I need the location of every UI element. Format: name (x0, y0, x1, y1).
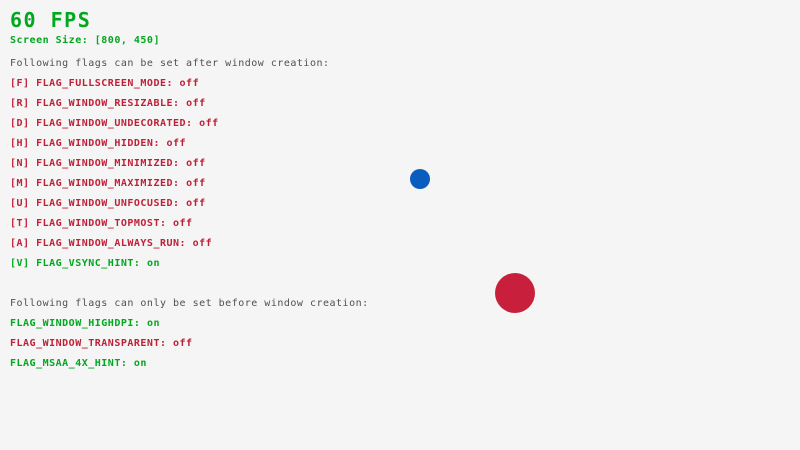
flag-name: [N] FLAG_WINDOW_MINIMIZED: (10, 158, 180, 169)
flag-row[interactable]: FLAG_WINDOW_TRANSPARENT: off (10, 339, 193, 349)
flag-name: FLAG_WINDOW_HIGHDPI: (10, 318, 140, 329)
flag-value: off (193, 118, 219, 129)
flag-row[interactable]: FLAG_MSAA_4X_HINT: on (10, 359, 147, 369)
flag-name: FLAG_WINDOW_TRANSPARENT: (10, 338, 167, 349)
flag-value: on (140, 258, 160, 269)
flag-value: on (127, 358, 147, 369)
flag-name: [F] FLAG_FULLSCREEN_MODE: (10, 78, 173, 89)
flag-value: off (180, 98, 206, 109)
raylib-window-flags-demo: 60 FPS Screen Size: [800, 450] Following… (0, 0, 800, 450)
flag-value: off (160, 138, 186, 149)
flag-row[interactable]: [F] FLAG_FULLSCREEN_MODE: off (10, 79, 199, 89)
flags-after-creation-header: Following flags can be set after window … (10, 59, 330, 69)
flag-row[interactable]: FLAG_WINDOW_HIGHDPI: on (10, 319, 160, 329)
fps-counter: 60 FPS (10, 10, 91, 30)
flag-row[interactable]: [D] FLAG_WINDOW_UNDECORATED: off (10, 119, 219, 129)
flag-name: [R] FLAG_WINDOW_RESIZABLE: (10, 98, 180, 109)
flag-value: on (140, 318, 160, 329)
flag-name: [M] FLAG_WINDOW_MAXIMIZED: (10, 178, 180, 189)
blue-ball (410, 169, 430, 189)
flag-name: [A] FLAG_WINDOW_ALWAYS_RUN: (10, 238, 186, 249)
flag-value: off (180, 178, 206, 189)
flag-value: off (180, 198, 206, 209)
flags-before-creation-header: Following flags can only be set before w… (10, 299, 369, 309)
screen-size-label: Screen Size: [800, 450] (10, 36, 160, 46)
flag-name: FLAG_MSAA_4X_HINT: (10, 358, 127, 369)
flag-name: [H] FLAG_WINDOW_HIDDEN: (10, 138, 160, 149)
flag-row[interactable]: [M] FLAG_WINDOW_MAXIMIZED: off (10, 179, 206, 189)
flag-row[interactable]: [A] FLAG_WINDOW_ALWAYS_RUN: off (10, 239, 212, 249)
flag-value: off (167, 218, 193, 229)
red-ball (495, 273, 535, 313)
flag-row[interactable]: [N] FLAG_WINDOW_MINIMIZED: off (10, 159, 206, 169)
flag-value: off (180, 158, 206, 169)
flag-name: [D] FLAG_WINDOW_UNDECORATED: (10, 118, 193, 129)
flag-row[interactable]: [T] FLAG_WINDOW_TOPMOST: off (10, 219, 193, 229)
flag-row[interactable]: [R] FLAG_WINDOW_RESIZABLE: off (10, 99, 206, 109)
flag-row[interactable]: [H] FLAG_WINDOW_HIDDEN: off (10, 139, 186, 149)
flag-row[interactable]: [U] FLAG_WINDOW_UNFOCUSED: off (10, 199, 206, 209)
flag-row[interactable]: [V] FLAG_VSYNC_HINT: on (10, 259, 160, 269)
flag-value: off (167, 338, 193, 349)
flag-name: [U] FLAG_WINDOW_UNFOCUSED: (10, 198, 180, 209)
flag-value: off (186, 238, 212, 249)
flag-name: [T] FLAG_WINDOW_TOPMOST: (10, 218, 167, 229)
flag-name: [V] FLAG_VSYNC_HINT: (10, 258, 140, 269)
flag-value: off (173, 78, 199, 89)
